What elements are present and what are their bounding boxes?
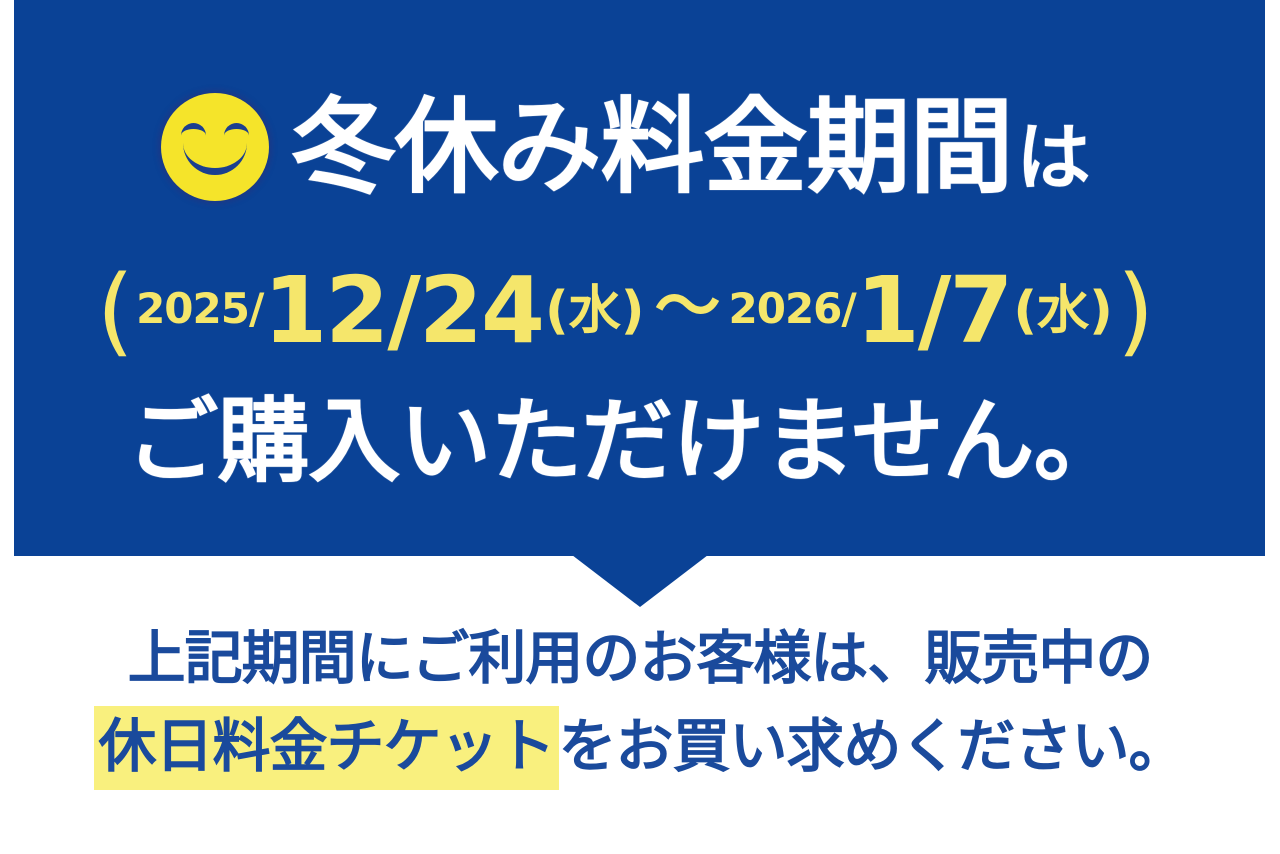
date-start-date: 12/24	[263, 265, 543, 357]
smiley-mouth-icon	[183, 141, 247, 175]
bubble-tail	[572, 555, 708, 607]
footer-note-line-2-rest: をお買い求めください。	[559, 712, 1186, 780]
date-open-paren: (	[95, 263, 136, 359]
highlighted-ticket-name: 休日料金チケット	[94, 706, 558, 790]
date-start-year: 2025/	[136, 288, 263, 334]
headline-row: 冬休み料金期間は	[0, 72, 1251, 222]
smiley-left-eye-icon	[181, 123, 206, 139]
date-end-year: 2026/	[729, 288, 856, 334]
date-end-dow: (水)	[1011, 285, 1115, 337]
smiley-face-icon	[161, 93, 269, 201]
date-start-dow: (水)	[543, 285, 647, 337]
date-end-date: 1/7	[856, 265, 1012, 357]
statement-text: ご購入いただけません。	[0, 382, 1251, 502]
headline-text: 冬休み料金期間は	[291, 95, 1089, 199]
headline-particle: は	[1017, 115, 1090, 201]
date-range-line: (2025/12/24(水)〜2026/1/7(水))	[0, 248, 1251, 374]
footer-note: 上記期間にご利用のお客様は、販売中の 休日料金チケットをお買い求めください。	[0, 614, 1280, 790]
footer-note-line-2: 休日料金チケットをお買い求めください。	[0, 702, 1280, 790]
date-close-paren: )	[1115, 263, 1156, 359]
poster-root: 冬休み料金期間は (2025/12/24(水)〜2026/1/7(水)) ご購入…	[0, 0, 1280, 854]
date-separator: 〜	[647, 274, 729, 340]
smiley-right-eye-icon	[224, 123, 249, 139]
headline-main: 冬休み料金期間	[291, 86, 1012, 208]
footer-note-line-1: 上記期間にご利用のお客様は、販売中の	[0, 614, 1280, 702]
